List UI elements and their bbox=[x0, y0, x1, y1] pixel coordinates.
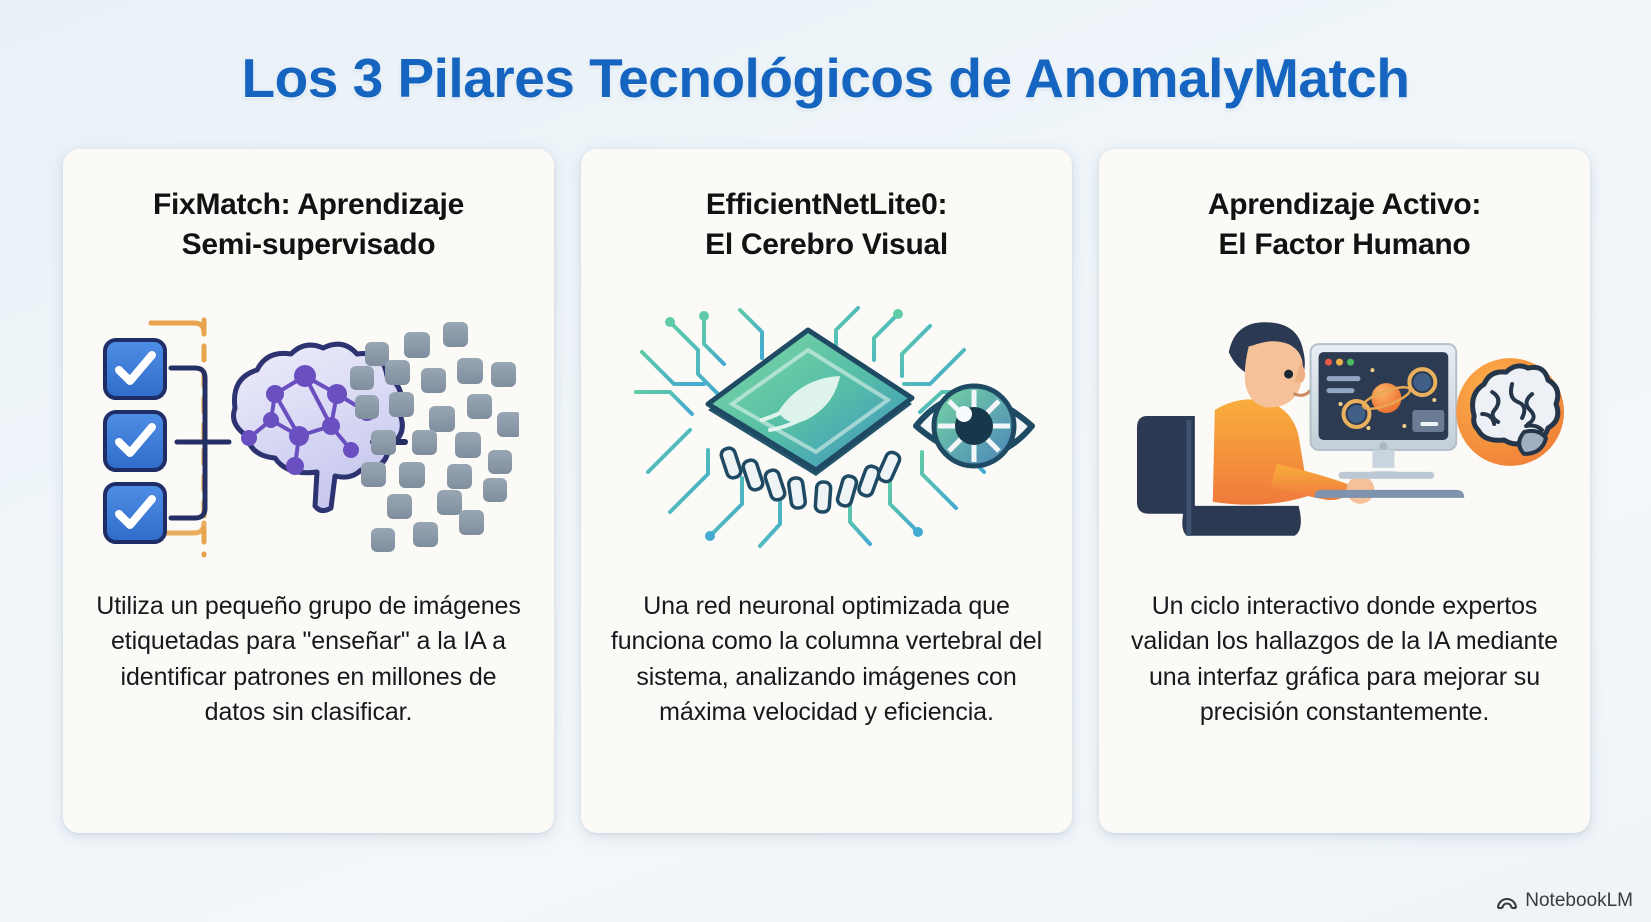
card-art-efficientnet bbox=[607, 287, 1046, 563]
checkbox-labeled-2 bbox=[105, 412, 165, 470]
pillar-card-efficientnet: EfficientNetLite0: El Cerebro Visual bbox=[581, 149, 1072, 833]
card-art-active-learning bbox=[1125, 287, 1564, 563]
card-heading-fixmatch: FixMatch: Aprendizaje Semi-supervisado bbox=[153, 185, 464, 265]
card-heading-efficientnet: EfficientNetLite0: El Cerebro Visual bbox=[705, 185, 948, 265]
card-art-fixmatch bbox=[89, 287, 528, 563]
keyboard bbox=[1315, 490, 1465, 498]
fixmatch-illustration bbox=[99, 290, 519, 560]
card-heading-line-2: El Factor Humano bbox=[1208, 225, 1481, 265]
desktop-monitor bbox=[1311, 344, 1457, 479]
card-body-efficientnet: Una red neuronal optimizada que funciona… bbox=[607, 589, 1046, 731]
card-body-fixmatch: Utiliza un pequeño grupo de imágenes eti… bbox=[89, 589, 528, 731]
navy-bracket-connector bbox=[171, 368, 229, 518]
efficientnet-illustration bbox=[612, 300, 1042, 550]
notebooklm-arc-icon bbox=[1496, 892, 1518, 910]
notebooklm-label: NotebookLM bbox=[1525, 890, 1633, 912]
pillar-card-fixmatch: FixMatch: Aprendizaje Semi-supervisado bbox=[63, 149, 554, 833]
notebooklm-watermark: NotebookLM bbox=[1496, 890, 1633, 912]
page-title: Los 3 Pilares Tecnológicos de AnomalyMat… bbox=[0, 46, 1651, 110]
checkbox-labeled-3 bbox=[105, 484, 165, 542]
checkbox-labeled-1 bbox=[105, 340, 165, 398]
card-heading-line-1: EfficientNetLite0: bbox=[705, 185, 948, 225]
card-heading-line-1: FixMatch: Aprendizaje bbox=[153, 185, 464, 225]
card-body-active-learning: Un ciclo interactivo donde expertos vali… bbox=[1125, 589, 1564, 731]
pillar-card-active-learning: Aprendizaje Activo: El Factor Humano bbox=[1099, 149, 1590, 833]
card-heading-active-learning: Aprendizaje Activo: El Factor Humano bbox=[1208, 185, 1481, 265]
active-learning-illustration bbox=[1125, 300, 1564, 550]
orange-brain-badge bbox=[1456, 358, 1564, 466]
unlabeled-data-squares bbox=[350, 322, 519, 552]
pillar-card-grid: FixMatch: Aprendizaje Semi-supervisado bbox=[63, 149, 1590, 833]
card-heading-line-2: El Cerebro Visual bbox=[705, 225, 948, 265]
infographic-page: Los 3 Pilares Tecnológicos de AnomalyMat… bbox=[0, 0, 1651, 922]
card-heading-line-2: Semi-supervisado bbox=[153, 225, 464, 265]
processor-chip bbox=[708, 330, 912, 476]
card-heading-line-1: Aprendizaje Activo: bbox=[1208, 185, 1481, 225]
